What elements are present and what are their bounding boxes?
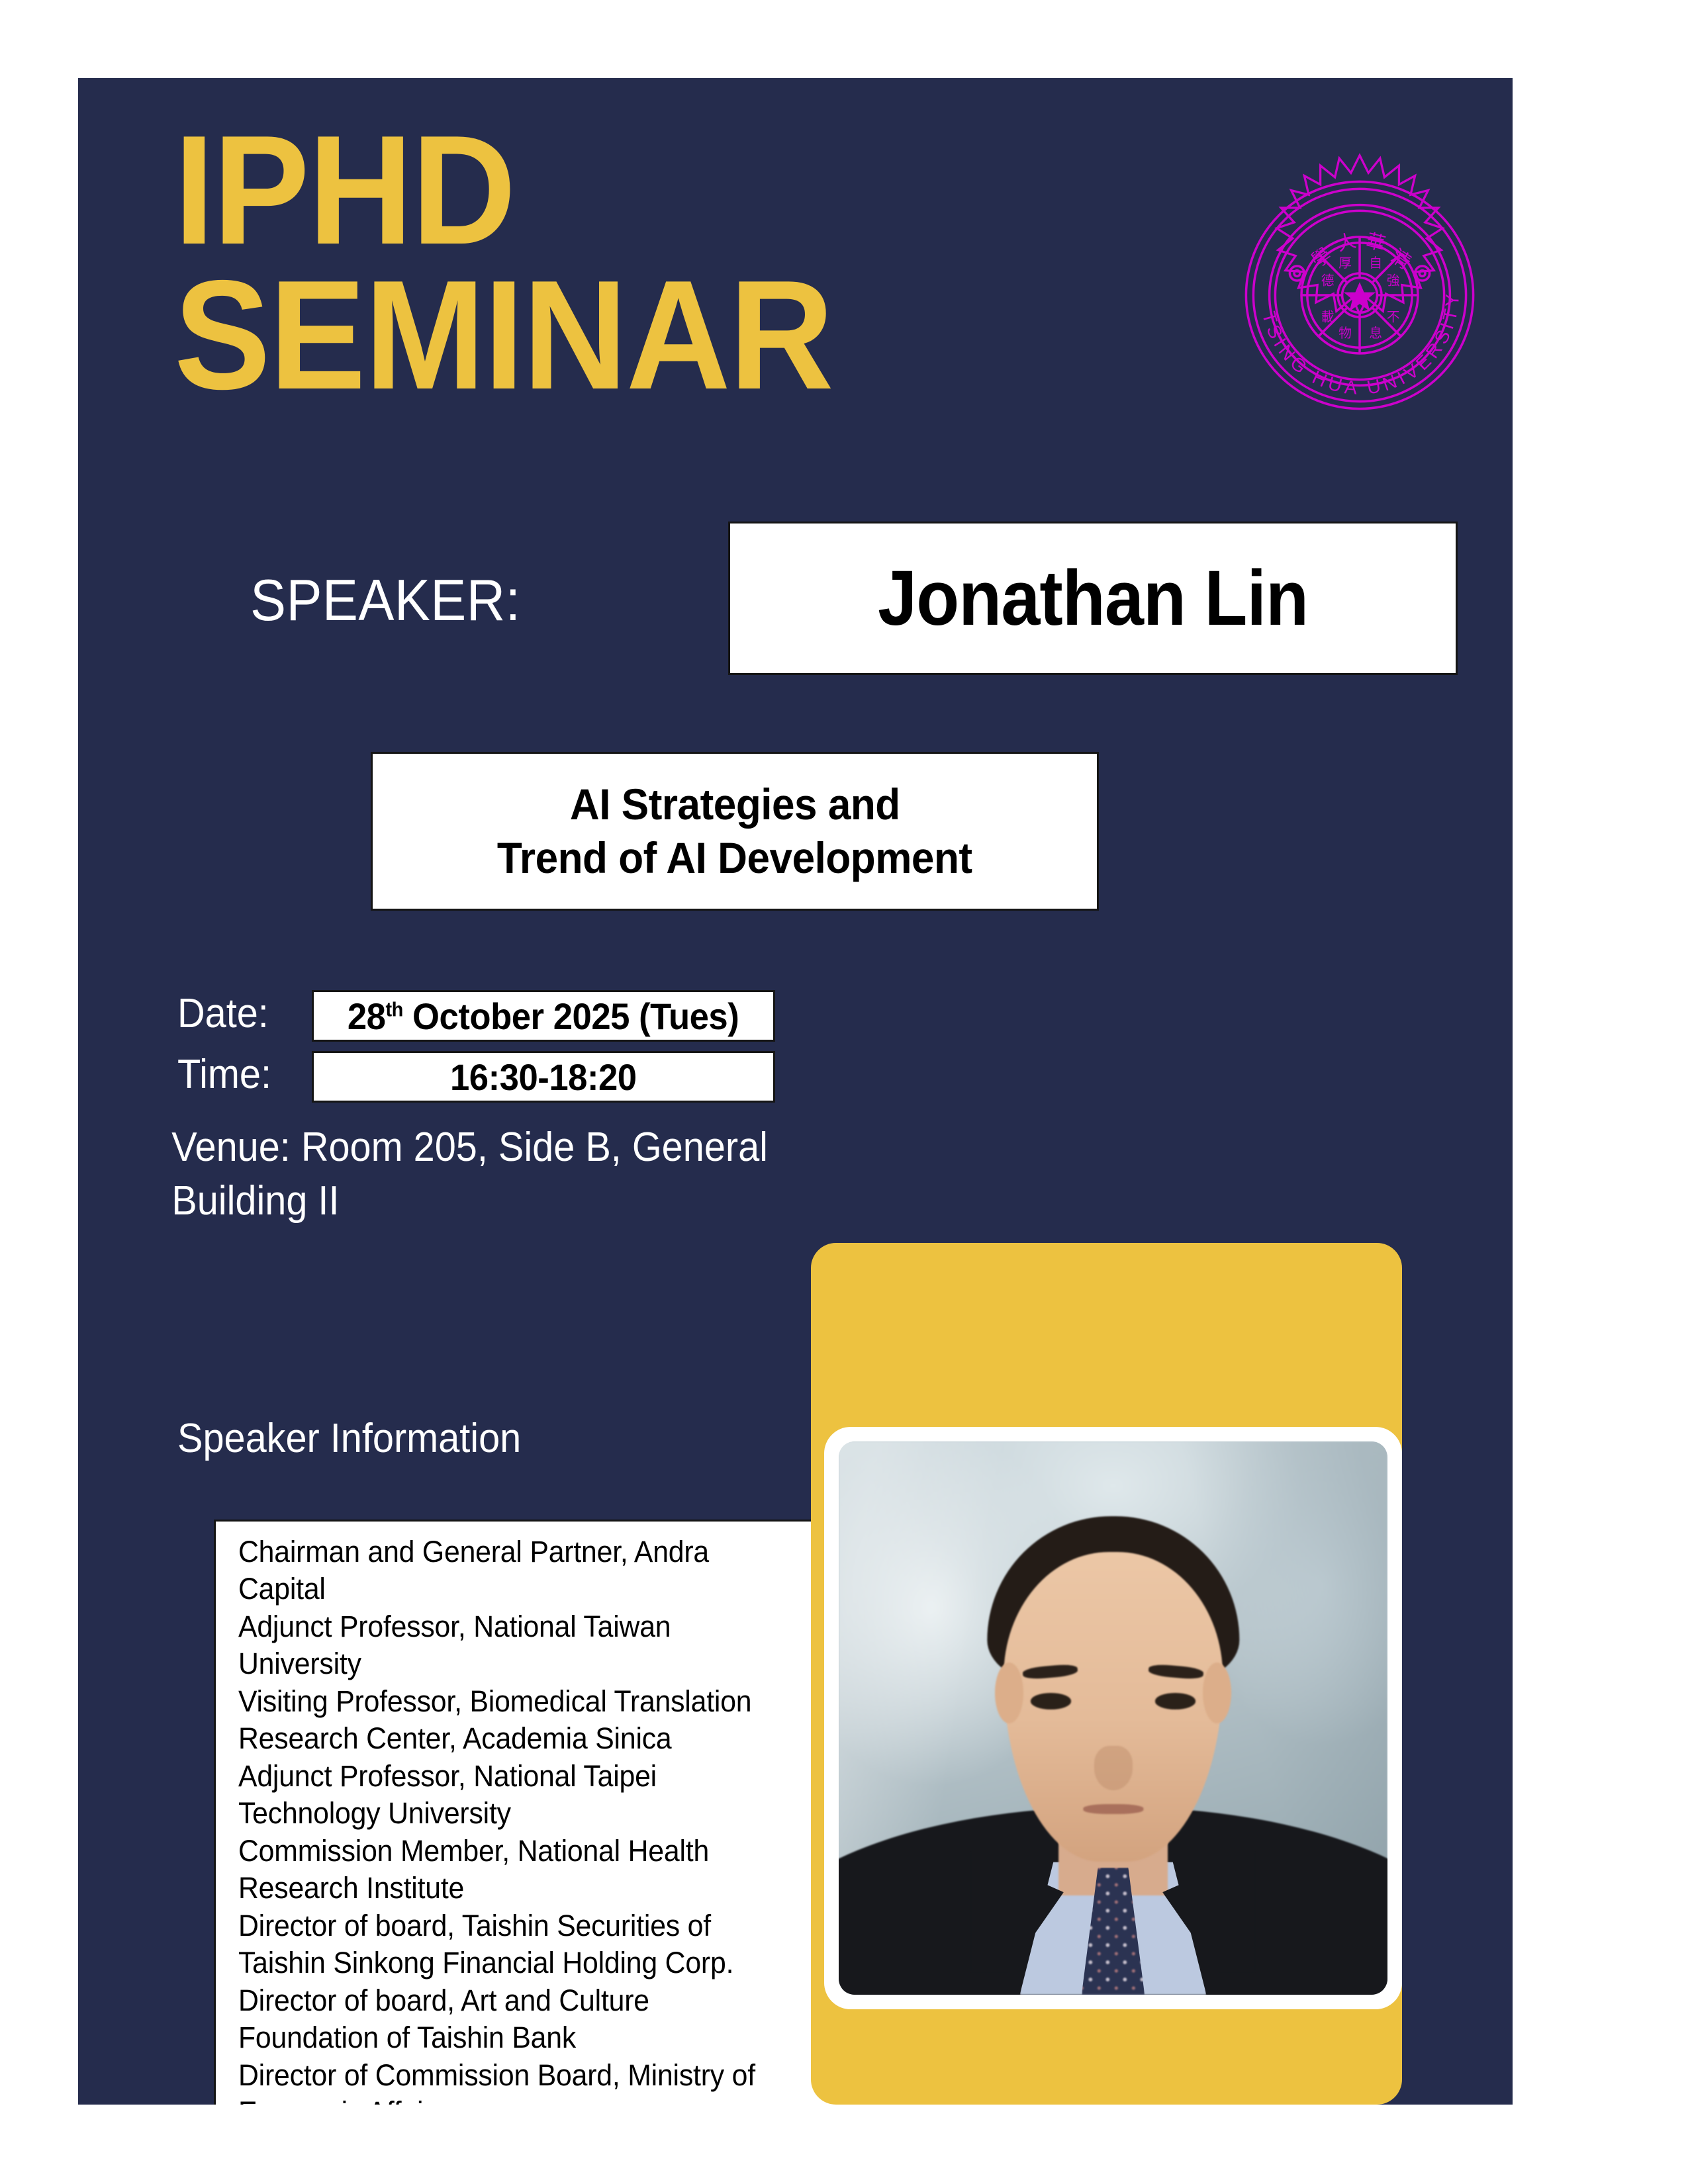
portrait-eye-left xyxy=(1031,1693,1071,1709)
seminar-poster: IPHD SEMINAR xyxy=(0,0,1688,2184)
svg-text:不: 不 xyxy=(1387,310,1400,325)
bio-line: Capital xyxy=(238,1570,816,1608)
portrait-nose xyxy=(1094,1746,1132,1790)
bio-line: University xyxy=(238,1645,816,1682)
svg-text:德: 德 xyxy=(1321,273,1335,289)
speaker-row: SPEAKER: Jonathan Lin xyxy=(171,515,1481,674)
portrait-mouth xyxy=(1083,1804,1143,1815)
speaker-portrait-photo xyxy=(839,1441,1387,1995)
portrait-card xyxy=(811,1243,1402,2105)
speaker-name-box: Jonathan Lin xyxy=(728,522,1458,675)
bio-line: Taishin Sinkong Financial Holding Corp. xyxy=(238,1944,816,1981)
bio-line: Visiting Professor, Biomedical Translati… xyxy=(238,1683,816,1720)
time-value: 16:30-18:20 xyxy=(450,1056,637,1099)
bio-line: Research Institute xyxy=(238,1870,816,1907)
svg-text:華: 華 xyxy=(1364,229,1387,255)
portrait-ear-right xyxy=(1203,1662,1231,1723)
bio-line: Director of board, Art and Culture xyxy=(238,1982,816,2019)
bio-line: Commission Member, National Health xyxy=(238,1833,816,1870)
svg-text:大: 大 xyxy=(1335,229,1358,255)
portrait-frame xyxy=(824,1427,1402,2009)
tsing-hua-university-seal-icon: 學 大 華 清 厚 自 德 強 載 不 物 息 xyxy=(1214,150,1505,441)
speaker-label: SPEAKER: xyxy=(250,567,521,634)
svg-text:物: 物 xyxy=(1338,326,1352,341)
bio-line: Technology University xyxy=(238,1795,816,1832)
poster-navy-panel: IPHD SEMINAR xyxy=(78,78,1513,2105)
svg-text:強: 強 xyxy=(1387,273,1400,289)
bio-line: Director of board, Taishin Securities of xyxy=(238,1907,816,1944)
date-label: Date: xyxy=(177,990,269,1037)
speaker-information-heading: Speaker Information xyxy=(177,1415,521,1462)
bio-line: Chairman and General Partner, Andra xyxy=(238,1533,816,1570)
talk-title-box: AI Strategies and Trend of AI Developmen… xyxy=(371,752,1099,911)
page-title: IPHD SEMINAR xyxy=(174,118,1049,407)
talk-title-line-1: AI Strategies and xyxy=(570,778,900,831)
svg-text:息: 息 xyxy=(1369,326,1382,341)
date-value-box: 28th October 2025 (Tues) xyxy=(312,990,775,1042)
bio-line: Research Center, Academia Sinica xyxy=(238,1720,816,1757)
bio-line: Adjunct Professor, National Taipei xyxy=(238,1758,816,1795)
date-row: Date: 28th October 2025 (Tues) xyxy=(95,985,988,1046)
talk-title-line-2: Trend of AI Development xyxy=(497,831,972,885)
bio-line: Director of Commission Board, Ministry o… xyxy=(238,2057,816,2094)
svg-text:自: 自 xyxy=(1369,255,1382,271)
bio-line: Economic Affairs xyxy=(238,2094,816,2105)
svg-text:厚: 厚 xyxy=(1338,255,1352,271)
bio-line: Foundation of Taishin Bank xyxy=(238,2019,816,2056)
venue-text: Venue: Room 205, Side B, General Buildin… xyxy=(95,1121,837,1228)
svg-text:載: 載 xyxy=(1321,310,1335,325)
speaker-bio-box: Chairman and General Partner, Andra Capi… xyxy=(214,1520,866,2105)
time-label: Time: xyxy=(177,1051,271,1098)
bio-line: Adjunct Professor, National Taiwan xyxy=(238,1608,816,1645)
portrait-eye-right xyxy=(1155,1693,1196,1709)
date-value: 28th October 2025 (Tues) xyxy=(348,995,739,1038)
time-value-box: 16:30-18:20 xyxy=(312,1051,775,1103)
time-row: Time: 16:30-18:20 xyxy=(95,1046,988,1107)
speaker-name: Jonathan Lin xyxy=(878,553,1308,643)
event-details: Date: 28th October 2025 (Tues) Time: 16:… xyxy=(95,985,988,1228)
